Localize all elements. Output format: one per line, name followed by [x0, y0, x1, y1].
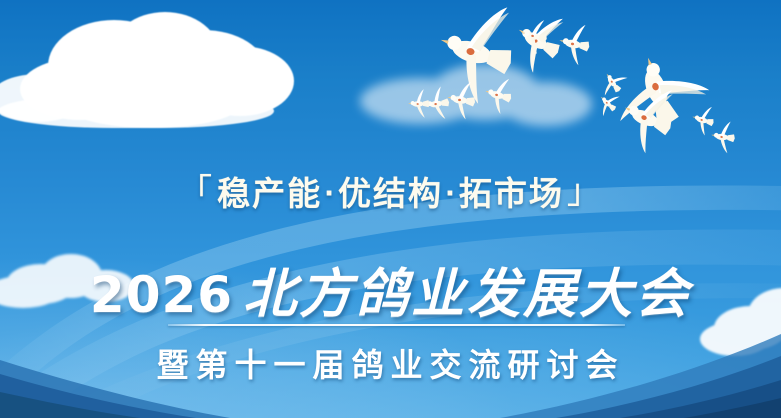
banner-text-block: 「稳产能·优结构·拓市场」 2026北方鸽业发展大会 暨第十一届鸽业交流研讨会: [0, 0, 781, 418]
title-divider: [168, 324, 625, 326]
subtitle-separator-1: ·: [324, 179, 336, 209]
main-title-text: 北方鸽业发展大会: [243, 263, 691, 325]
subtitle-segment-2: 优结构: [338, 174, 443, 213]
conference-banner: 「稳产能·优结构·拓市场」 2026北方鸽业发展大会 暨第十一届鸽业交流研讨会: [0, 0, 781, 418]
banner-subtitle: 「稳产能·优结构·拓市场」: [0, 166, 781, 215]
subtitle-segment-3: 拓市场: [459, 174, 564, 213]
bracket-open-icon: 「: [178, 172, 214, 212]
subtitle-separator-2: ·: [445, 179, 457, 209]
subtitle-segment-1: 稳产能: [217, 174, 322, 213]
banner-main-title: 2026北方鸽业发展大会: [0, 252, 781, 328]
main-title-year: 2026: [90, 266, 233, 324]
banner-third-line: 暨第十一届鸽业交流研讨会: [0, 340, 781, 386]
bracket-close-icon: 」: [567, 172, 603, 212]
